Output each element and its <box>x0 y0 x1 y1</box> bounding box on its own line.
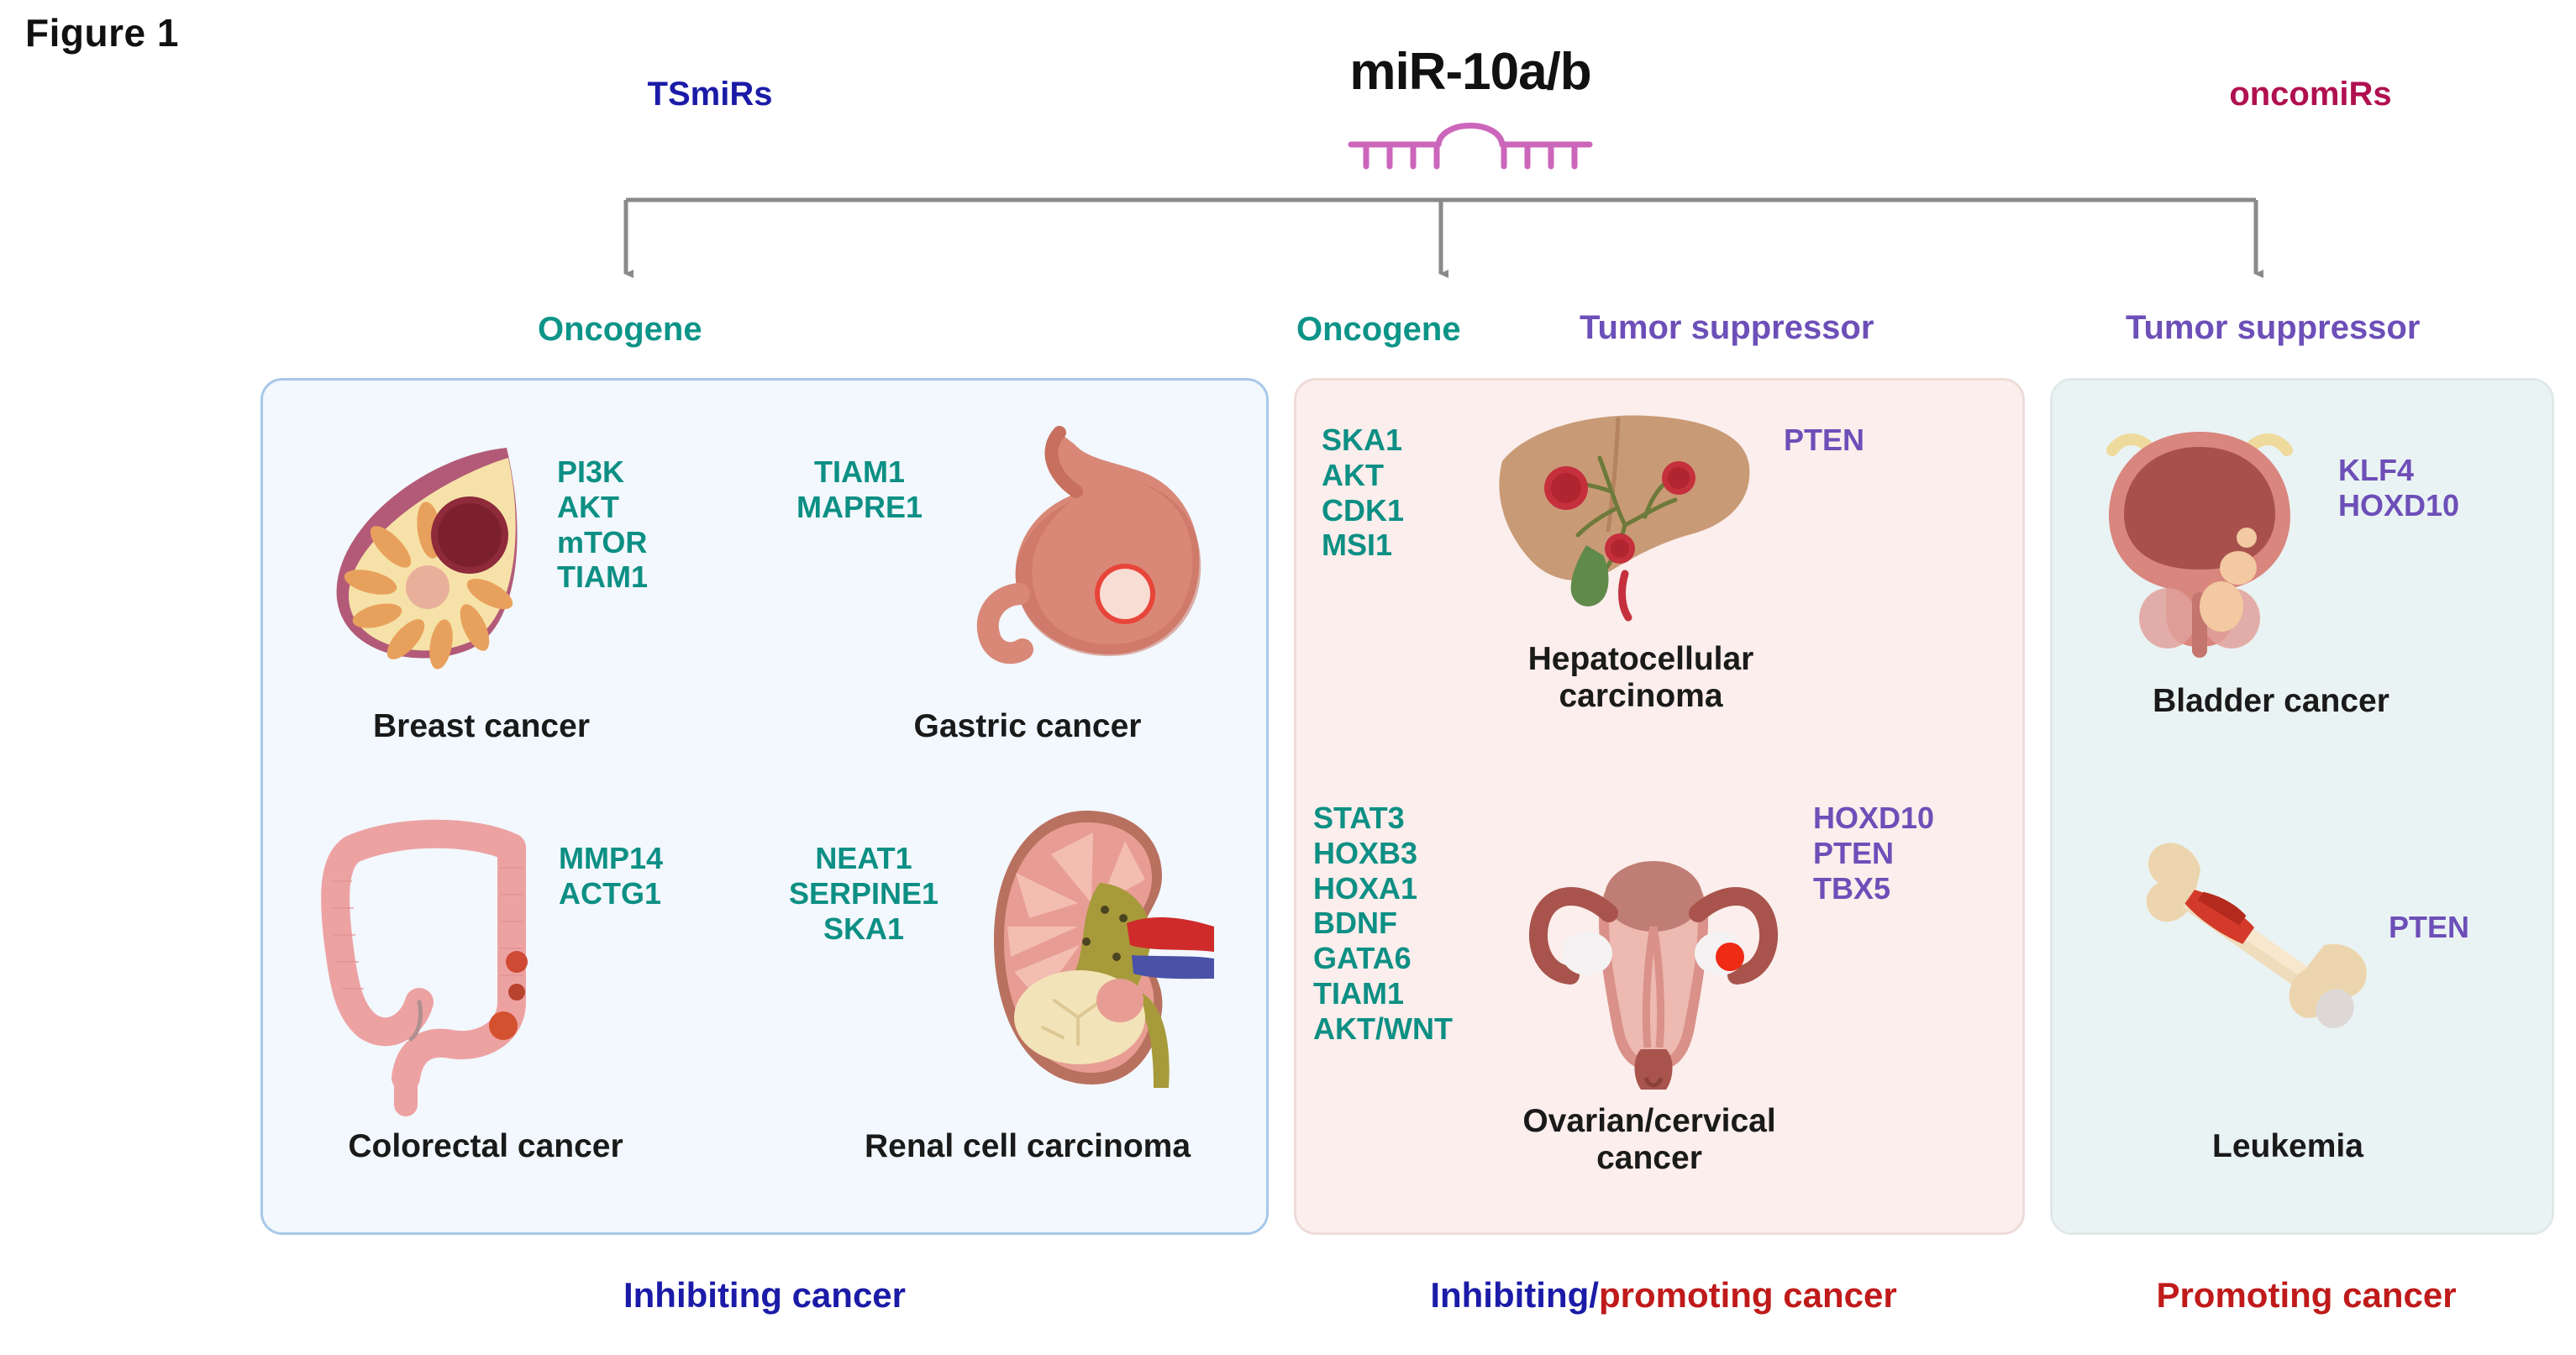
category-label-mid-ts: Tumor suppressor <box>1580 309 1874 347</box>
gene-list-hcc-tumorsuppressors: PTEN <box>1784 423 1977 458</box>
cell-caption-breast: Breast cancer <box>271 708 691 745</box>
bottom-caption-mid-promoting: promoting cancer <box>1599 1275 1897 1315</box>
figure-title: miR-10a/b <box>1294 42 1647 102</box>
liver-icon <box>1477 397 1763 641</box>
cell-caption-renal: Renal cell carcinoma <box>792 1128 1263 1165</box>
cell-caption-leukemia: Leukemia <box>2069 1128 2506 1165</box>
branch-connector <box>504 193 2378 311</box>
gene-list-hcc-oncogenes: SKA1 AKT CDK1 MSI1 <box>1322 423 1481 563</box>
category-label-left: Oncogene <box>538 311 702 349</box>
bladder-icon <box>2074 402 2326 654</box>
gene-list-colorectal-oncogenes: MMP14 ACTG1 <box>559 841 744 911</box>
gene-list-gastric-oncogenes: TIAM1 MAPRE1 <box>733 454 986 525</box>
category-label-right: Tumor suppressor <box>2126 309 2420 347</box>
panel-mixed: SKA1 AKT CDK1 MSI1 PTEN Hepatocellular c… <box>1294 378 2025 1235</box>
kidney-icon <box>952 792 1246 1111</box>
branch-label-tsmirs: TSmiRs <box>571 76 849 113</box>
gene-list-ovarian-oncogenes: STAT3 HOXB3 HOXA1 BDNF GATA6 TIAM1 AKT/W… <box>1313 801 1506 1046</box>
bottom-caption-left: Inhibiting cancer <box>471 1275 1059 1316</box>
bottom-caption-right: Promoting cancer <box>2067 1275 2546 1316</box>
category-label-mid-onco: Oncogene <box>1296 311 1461 349</box>
cell-caption-ovarian: Ovarian/cervical cancer <box>1422 1103 1876 1176</box>
gene-list-bladder-tumorsuppressors: KLF4 HOXD10 <box>2338 453 2548 523</box>
colon-icon <box>271 801 549 1111</box>
cell-caption-bladder: Bladder cancer <box>2053 683 2489 720</box>
gene-list-leukemia-tumorsuppressors: PTEN <box>2389 910 2548 945</box>
figure-label: Figure 1 <box>25 10 179 55</box>
cell-caption-hcc: Hepatocellular carcinoma <box>1422 641 1859 714</box>
bottom-caption-mid: Inhibiting/promoting cancer <box>1285 1275 2042 1316</box>
gene-list-ovarian-tumorsuppressors: HOXD10 PTEN TBX5 <box>1813 801 2015 906</box>
panel-tsmirs: PI3K AKT mTOR TIAM1 Breast cancer TIAM1 … <box>260 378 1269 1235</box>
uterus-icon <box>1506 826 1801 1103</box>
bone-icon <box>2086 775 2405 1086</box>
mirna-hairpin-icon <box>1344 108 1596 168</box>
breast-icon <box>297 423 549 675</box>
branch-label-oncomirs: oncomiRs <box>2151 76 2470 113</box>
cell-caption-colorectal: Colorectal cancer <box>263 1128 708 1165</box>
gene-list-breast-oncogenes: PI3K AKT mTOR TIAM1 <box>557 454 733 595</box>
bottom-caption-mid-inhibiting: Inhibiting/ <box>1430 1275 1599 1315</box>
panel-oncomirs: KLF4 HOXD10 Bladder cancer PTEN Leukemia <box>2050 378 2554 1235</box>
cell-caption-gastric: Gastric cancer <box>809 708 1246 745</box>
stomach-icon <box>960 414 1238 683</box>
